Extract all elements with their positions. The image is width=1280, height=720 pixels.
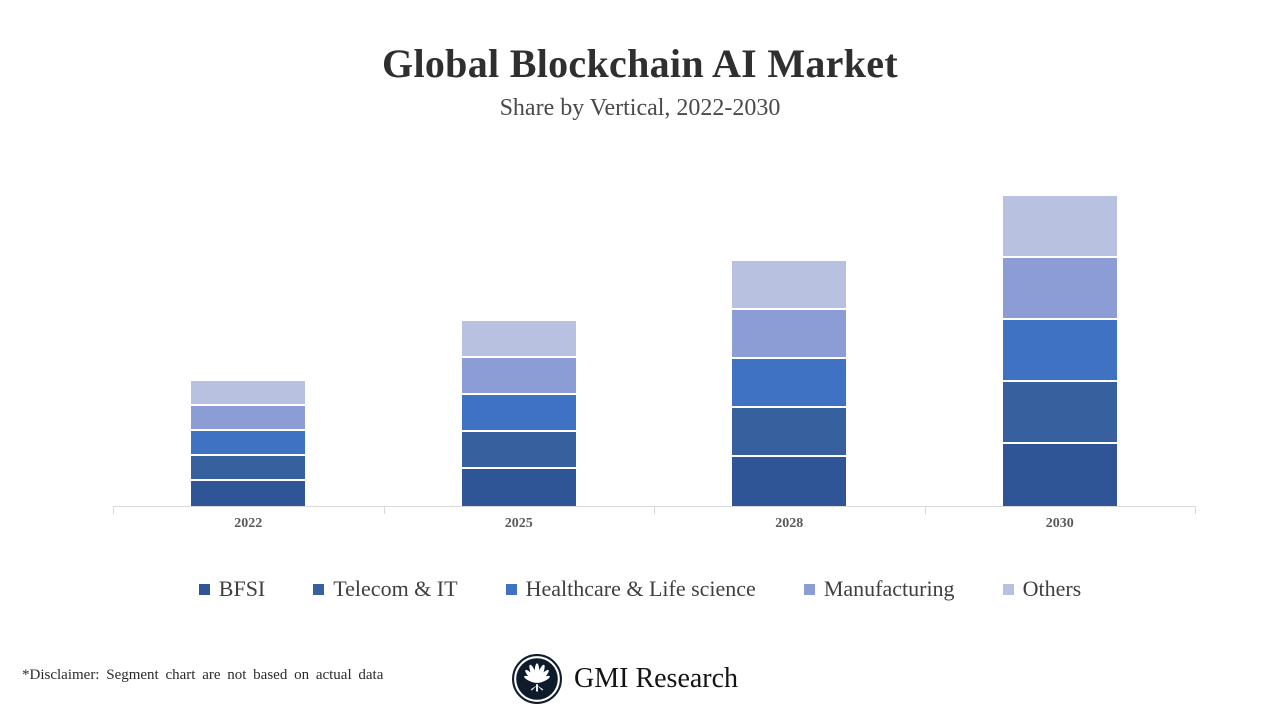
- legend-item[interactable]: Healthcare & Life science: [506, 578, 756, 600]
- legend-swatch-icon: [804, 584, 815, 595]
- bar-segment[interactable]: [1003, 258, 1117, 320]
- legend-label: Manufacturing: [824, 578, 955, 600]
- bar-segment[interactable]: [732, 457, 846, 506]
- bar-segment[interactable]: [462, 432, 576, 469]
- axis-tick: [925, 506, 926, 514]
- bar-segment[interactable]: [462, 469, 576, 506]
- bar-stack[interactable]: [1003, 196, 1117, 506]
- bar-group: [113, 150, 384, 506]
- bar-group: [654, 150, 925, 506]
- legend-swatch-icon: [506, 584, 517, 595]
- axis-tick: [1195, 506, 1196, 514]
- legend-label: BFSI: [219, 578, 265, 600]
- bar-segment[interactable]: [462, 358, 576, 395]
- bar-segment[interactable]: [732, 408, 846, 457]
- legend-label: Healthcare & Life science: [526, 578, 756, 600]
- gmi-research-logo-icon: [511, 653, 563, 705]
- bar-stack[interactable]: [732, 261, 846, 506]
- legend-label: Others: [1023, 578, 1082, 600]
- bar-segment[interactable]: [462, 321, 576, 358]
- bar-segment[interactable]: [191, 431, 305, 456]
- brand-name: GMI Research: [574, 665, 738, 693]
- bar-group: [925, 150, 1196, 506]
- legend-swatch-icon: [313, 584, 324, 595]
- chart-subtitle: Share by Vertical, 2022-2030: [0, 96, 1280, 120]
- bar-segment[interactable]: [191, 406, 305, 431]
- axis-label-2028: 2028: [654, 516, 925, 532]
- axis-tick: [654, 506, 655, 514]
- bar-segment[interactable]: [1003, 444, 1117, 506]
- bar-stack[interactable]: [191, 381, 305, 506]
- bar-segment[interactable]: [1003, 320, 1117, 382]
- legend-swatch-icon: [199, 584, 210, 595]
- legend-item[interactable]: BFSI: [199, 578, 265, 600]
- bar-segment[interactable]: [732, 359, 846, 408]
- bar-segment[interactable]: [1003, 382, 1117, 444]
- plot-area: [113, 150, 1195, 506]
- bar-segment[interactable]: [732, 310, 846, 359]
- axis-label-2022: 2022: [113, 516, 384, 532]
- bar-segment[interactable]: [462, 395, 576, 432]
- chart-legend: BFSITelecom & ITHealthcare & Life scienc…: [0, 578, 1280, 600]
- page-title: Global Blockchain AI Market: [0, 44, 1280, 84]
- legend-item[interactable]: Others: [1003, 578, 1082, 600]
- legend-swatch-icon: [1003, 584, 1014, 595]
- legend-item[interactable]: Telecom & IT: [313, 578, 457, 600]
- bar-segment[interactable]: [1003, 196, 1117, 258]
- axis-label-2025: 2025: [384, 516, 655, 532]
- axis-label-2030: 2030: [925, 516, 1196, 532]
- brand-lockup: GMI Research: [511, 653, 738, 705]
- disclaimer-text: *Disclaimer: Segment chart are not based…: [22, 667, 383, 684]
- bar-segment[interactable]: [191, 381, 305, 406]
- legend-item[interactable]: Manufacturing: [804, 578, 955, 600]
- legend-label: Telecom & IT: [333, 578, 457, 600]
- bar-segment[interactable]: [732, 261, 846, 310]
- axis-tick: [384, 506, 385, 514]
- bar-stack[interactable]: [462, 321, 576, 506]
- bar-segment[interactable]: [191, 481, 305, 506]
- x-axis-labels: 2022202520282030: [113, 516, 1195, 540]
- bar-segment[interactable]: [191, 456, 305, 481]
- axis-tick: [113, 506, 114, 514]
- bar-group: [384, 150, 655, 506]
